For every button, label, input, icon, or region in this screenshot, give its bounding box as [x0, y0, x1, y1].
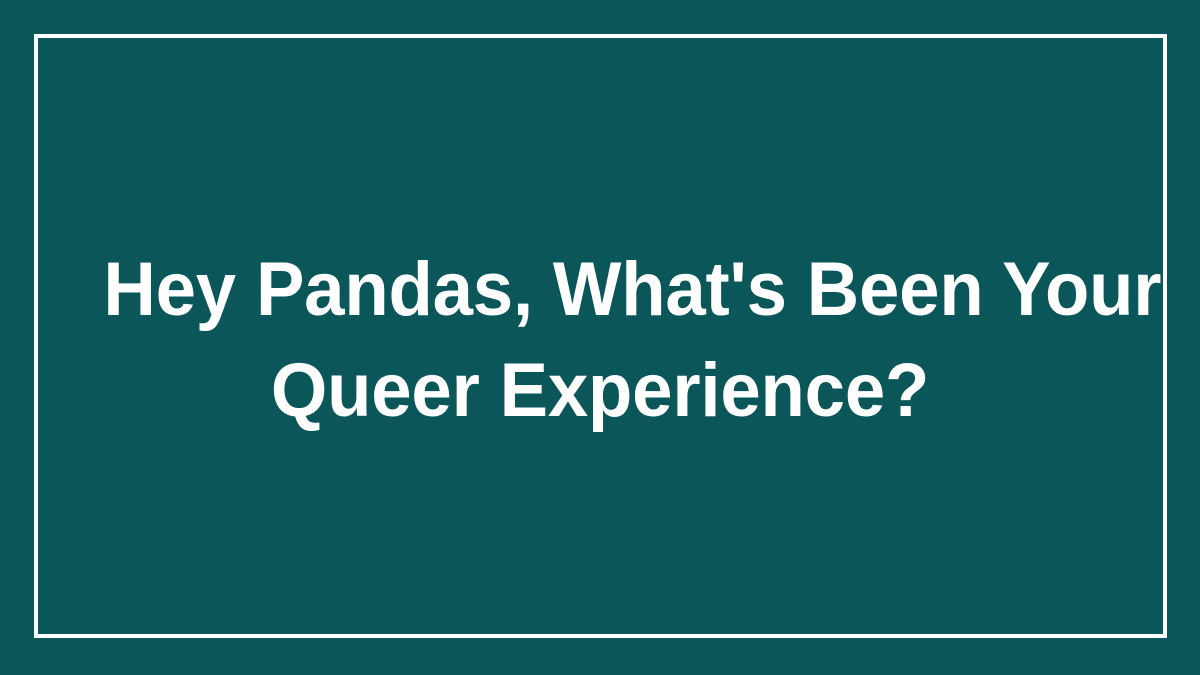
headline-line-1: Hey Pandas, What's Been Your [103, 240, 1096, 340]
page-title: Hey Pandas, What's Been Your Queer Exper… [103, 240, 1096, 441]
poster-canvas: Hey Pandas, What's Been Your Queer Exper… [0, 0, 1200, 675]
headline-container: Hey Pandas, What's Been Your Queer Exper… [0, 0, 1200, 675]
headline-line-2: Queer Experience? [103, 341, 1096, 441]
